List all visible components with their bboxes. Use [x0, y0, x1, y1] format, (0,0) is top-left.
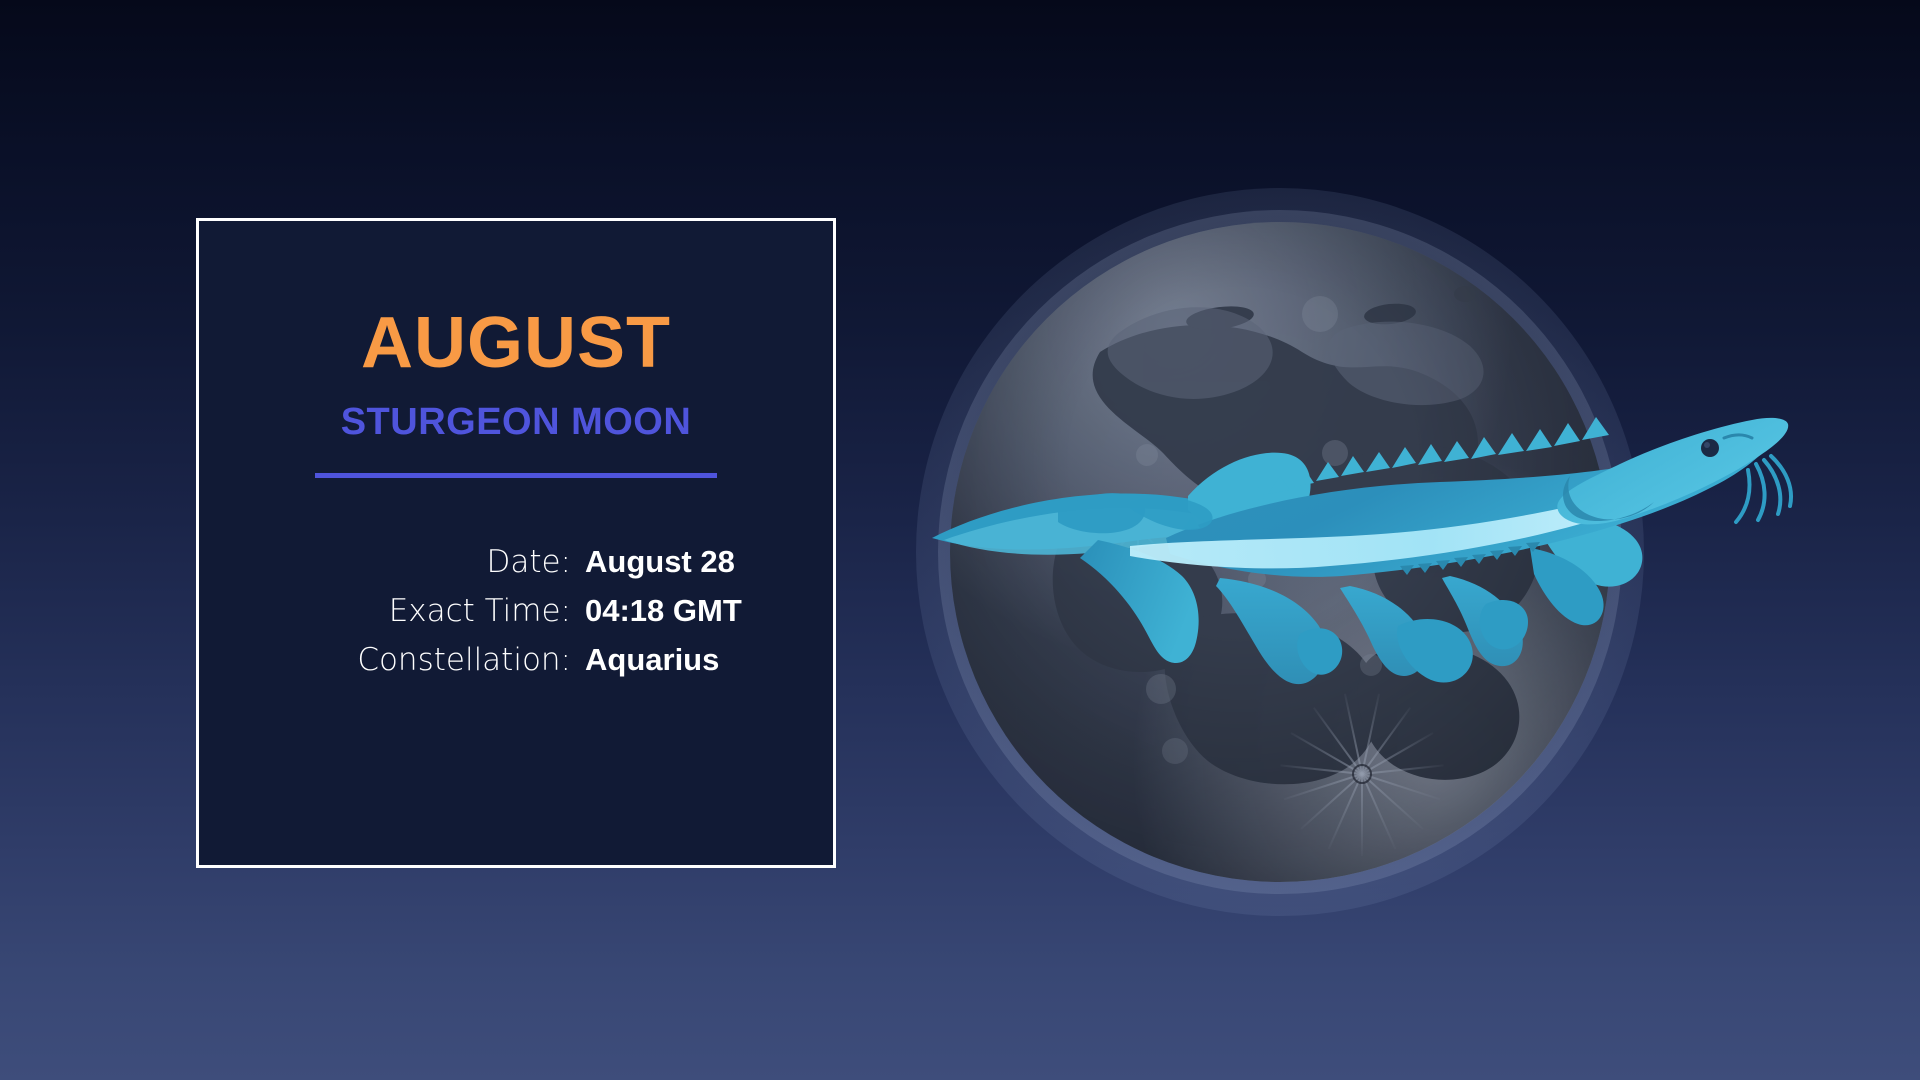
poster-canvas: AUGUST STURGEON MOON Date: August 28 Exa… [0, 0, 1920, 1080]
sturgeon-fish [930, 390, 1790, 720]
detail-value-date: August 28 [585, 544, 787, 580]
moon-info-card: AUGUST STURGEON MOON Date: August 28 Exa… [196, 218, 836, 868]
detail-label-date: Date: [486, 544, 571, 580]
detail-row-exact-time: Exact Time: 04:18 GMT [245, 593, 787, 629]
fish-fins-lower [1216, 576, 1523, 684]
detail-list: Date: August 28 Exact Time: 04:18 GMT Co… [199, 544, 833, 678]
moon-name-subtitle: STURGEON MOON [341, 403, 692, 441]
detail-row-date: Date: August 28 [245, 544, 787, 580]
detail-row-constellation: Constellation: Aquarius [245, 642, 787, 678]
page-title: AUGUST [361, 307, 671, 379]
detail-label-exact-time: Exact Time: [389, 593, 571, 629]
detail-label-constellation: Constellation: [357, 642, 571, 678]
detail-value-constellation: Aquarius [585, 642, 787, 678]
detail-value-exact-time: 04:18 GMT [585, 593, 787, 629]
divider [315, 473, 717, 478]
